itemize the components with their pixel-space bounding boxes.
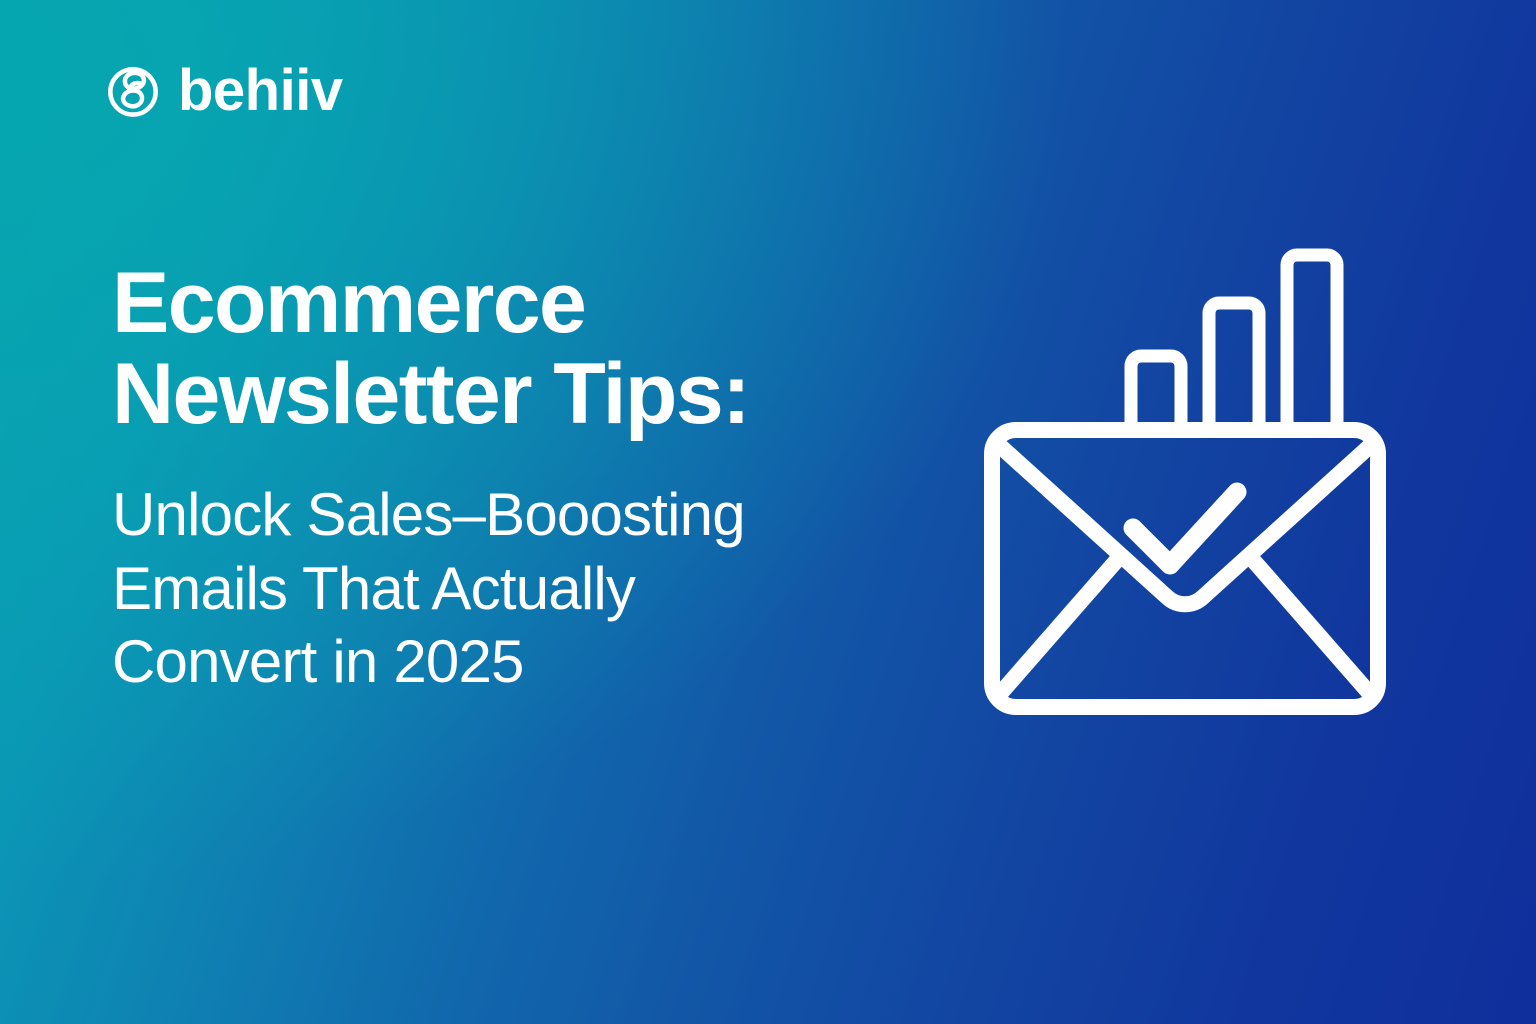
bar-chart-icon bbox=[1131, 255, 1337, 436]
brand-wordmark: behiiv bbox=[178, 62, 343, 120]
envelope-with-checkmark-and-bar-chart-icon bbox=[965, 240, 1405, 730]
envelope-icon bbox=[992, 430, 1378, 707]
headline-line-2: Newsletter Tips: bbox=[112, 349, 912, 440]
headline-line-1: Ecommerce bbox=[112, 258, 912, 349]
checkmark-icon bbox=[1133, 492, 1237, 565]
page-subtitle: Unlock Sales–Booosting Emails That Actua… bbox=[112, 478, 912, 698]
promo-banner: behiiv Ecommerce Newsletter Tips: Unlock… bbox=[0, 0, 1536, 1024]
subtitle-line-3: Convert in 2025 bbox=[112, 625, 912, 698]
envelope-crease-right bbox=[1253, 560, 1371, 695]
subtitle-line-2: Emails That Actually bbox=[112, 552, 912, 625]
envelope-fold bbox=[999, 445, 1371, 604]
brand-logo[interactable]: behiiv bbox=[104, 62, 343, 120]
page-title: Ecommerce Newsletter Tips: bbox=[112, 258, 912, 440]
headline-block: Ecommerce Newsletter Tips: Unlock Sales–… bbox=[112, 258, 912, 698]
envelope-crease-left bbox=[999, 560, 1117, 695]
beehiiv-spiral-circle-icon bbox=[104, 62, 162, 120]
subtitle-line-1: Unlock Sales–Booosting bbox=[112, 478, 912, 551]
